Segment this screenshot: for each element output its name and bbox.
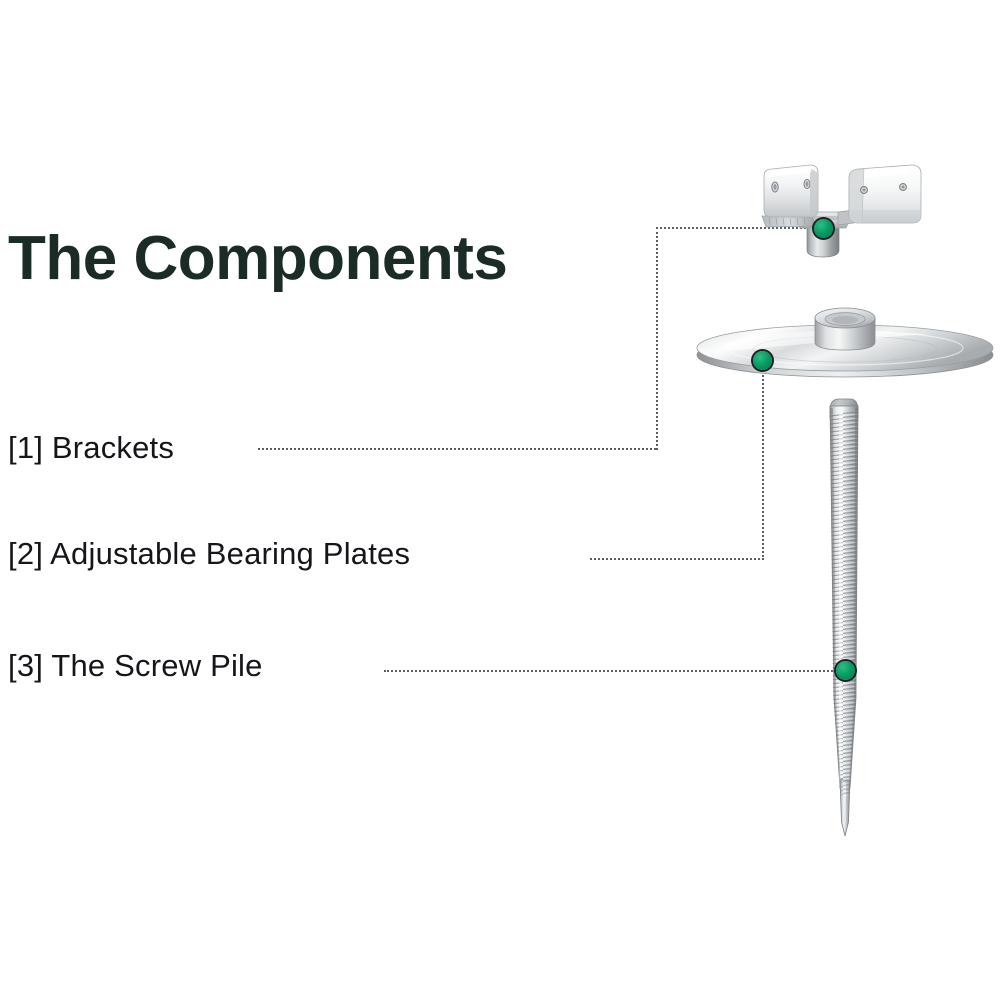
page-title: The Components	[8, 228, 507, 290]
leader-line-bearing-plates-horizontal	[590, 558, 764, 560]
bracket-right	[838, 165, 921, 225]
components-diagram: The Components [1] Brackets [2] Adjustab…	[0, 0, 1000, 1000]
bearing-plate-assembly-illustration	[690, 296, 1000, 386]
leader-line-bearing-plates-vertical	[762, 360, 764, 560]
bracket-assembly-illustration	[750, 160, 1000, 290]
legend-item-the-screw-pile: [3] The Screw Pile	[8, 650, 263, 681]
bearing-plate-hub	[815, 308, 875, 350]
legend-item-adjustable-bearing-plates: [2] Adjustable Bearing Plates	[8, 538, 410, 569]
leader-line-screw-pile-horizontal	[384, 670, 844, 672]
screw-pile-shaft	[828, 406, 860, 792]
marker-dot-brackets[interactable]	[814, 219, 833, 238]
leader-line-brackets-vertical	[656, 227, 658, 450]
marker-dot-screw-pile[interactable]	[836, 661, 855, 680]
legend-item-brackets: [1] Brackets	[8, 432, 174, 463]
leader-line-brackets-horizontal	[258, 448, 656, 450]
screw-pile-illustration	[815, 398, 883, 838]
bracket-left	[762, 165, 818, 227]
screw-pile-tip	[839, 778, 853, 836]
marker-dot-bearing-plates[interactable]	[753, 351, 772, 370]
